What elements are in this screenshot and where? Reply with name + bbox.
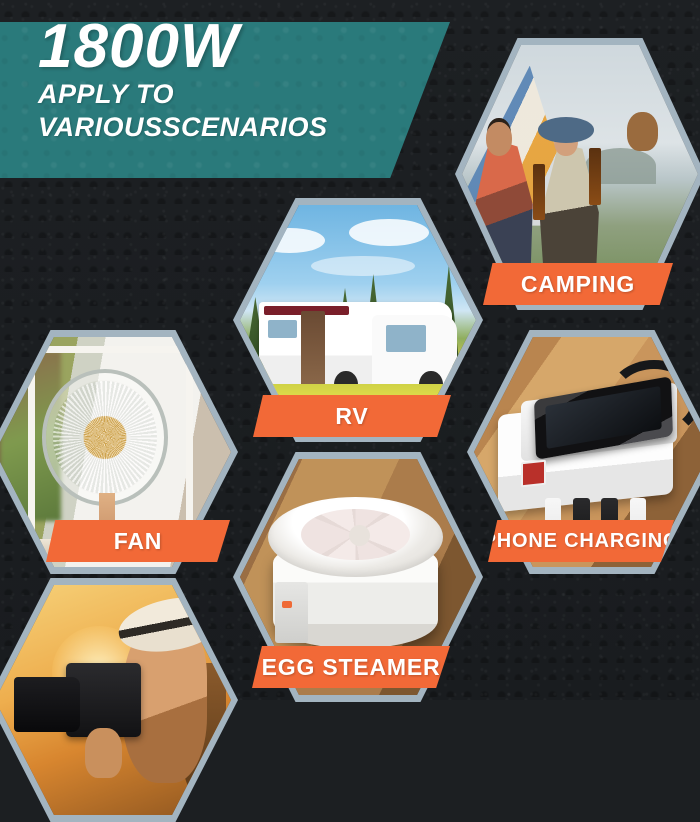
cloud-2 (349, 219, 429, 247)
page-subtitle-line-2: VARIOUSSCENARIOS (38, 111, 328, 144)
person-left-head (486, 122, 512, 156)
banner-text-group: 1800W APPLY TO VARIOUSSCENARIOS (38, 16, 328, 144)
phone-screen (546, 386, 662, 449)
scenario-label-fan: FAN (46, 520, 230, 562)
scenario-image-photography (0, 585, 231, 815)
page-subtitle-line-1: APPLY TO (38, 78, 328, 111)
egg-tray-center (349, 525, 370, 546)
woman-hand (85, 728, 123, 779)
dslr-camera-lens (14, 677, 80, 732)
scenario-label-text: PHONE CHARGING (483, 530, 680, 553)
beer-bottle-left (533, 164, 545, 221)
fan-hub (90, 421, 121, 454)
scenario-label-egg-steamer: EGG STEAMER (252, 646, 450, 688)
scenario-label-camping: CAMPING (483, 263, 673, 305)
person-right-head (627, 112, 658, 151)
scenario-label-text: RV (335, 403, 368, 430)
beer-bottle-right (589, 148, 601, 205)
scenario-label-rv: RV (253, 395, 451, 437)
rv-windshield (386, 325, 426, 353)
fan-cage (42, 369, 168, 506)
control-panel (275, 582, 308, 643)
cloud-3 (311, 256, 415, 277)
scenario-label-text: CAMPING (521, 271, 635, 298)
rv-door (301, 311, 325, 394)
scenario-label-text: FAN (114, 528, 162, 555)
person-center-hat (538, 117, 595, 143)
power-switch (521, 460, 546, 487)
scenario-label-phone-charging: PHONE CHARGING (488, 520, 674, 562)
scenario-label-text: EGG STEAMER (262, 654, 441, 681)
page-title-wattage: 1800W (38, 16, 328, 78)
rv-window-1 (268, 320, 296, 338)
photography-photo (0, 585, 231, 815)
power-indicator-led (282, 601, 291, 608)
